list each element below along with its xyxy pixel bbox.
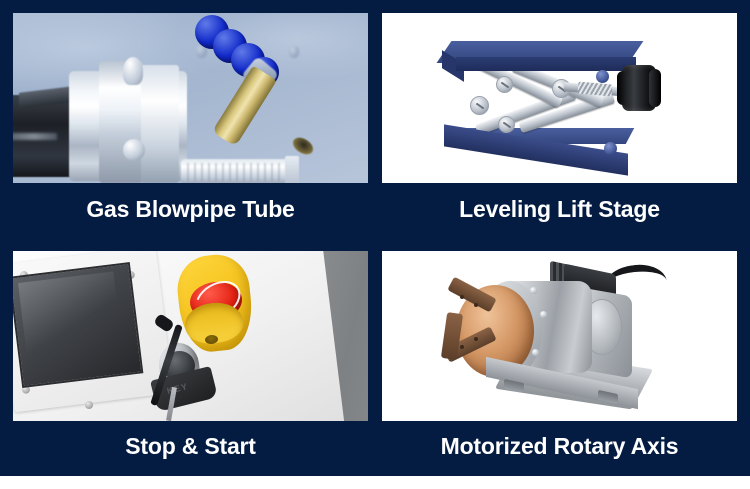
lift-top-plate-face [456,57,636,71]
gas-blowpipe-tube-image [13,13,368,183]
screen-glare [18,271,124,370]
pivot-screw-icon [498,116,515,133]
gas-blowpipe-tube-caption: Gas Blowpipe Tube [13,183,368,239]
motorized-rotary-axis-image [382,251,737,421]
spindle-flange-secondary [141,65,179,183]
bolt-icon [530,287,537,294]
pivot-screw-icon [470,96,489,115]
lower-tube-end-cap [285,156,299,183]
blue-bolt [596,70,609,83]
blue-bolt [604,142,617,155]
feature-card-grid: Gas Blowpipe Tube [0,0,750,476]
lower-ribbed-tube [181,159,291,183]
lift-stage-product-art [382,13,737,183]
stop-and-start-caption: Stop & Start [13,421,368,477]
adjustment-knob [622,65,656,111]
motorized-rotary-axis-caption: Motorized Rotary Axis [382,421,737,477]
jaw-hole [460,345,464,349]
feature-highlight-page: Gas Blowpipe Tube [0,0,750,489]
stop-and-start-image [13,251,368,421]
rotary-axis-product-art [382,251,737,421]
feature-card-motorized-rotary-axis[interactable]: Motorized Rotary Axis [382,251,737,477]
feature-card-leveling-lift-stage[interactable]: Leveling Lift Stage [382,13,737,239]
jaw-hole [474,337,478,341]
gas-blowpipe-photo-art [13,13,368,183]
bottom-white-strip [0,476,750,489]
bolt-icon [532,349,539,356]
feature-card-stop-and-start[interactable]: Stop & Start [13,251,368,477]
leveling-lift-stage-image [382,13,737,183]
feature-card-gas-blowpipe-tube[interactable]: Gas Blowpipe Tube [13,13,368,239]
jaw-hole [474,303,478,307]
jaw-hole [460,295,464,299]
spindle-ball-detail [123,139,145,161]
pivot-screw-icon [496,76,513,93]
control-panel-photo-art [13,251,368,421]
screw-icon [85,401,93,409]
spindle-knob [123,57,143,85]
bolt-icon [540,311,547,318]
leveling-lift-stage-caption: Leveling Lift Stage [382,183,737,239]
